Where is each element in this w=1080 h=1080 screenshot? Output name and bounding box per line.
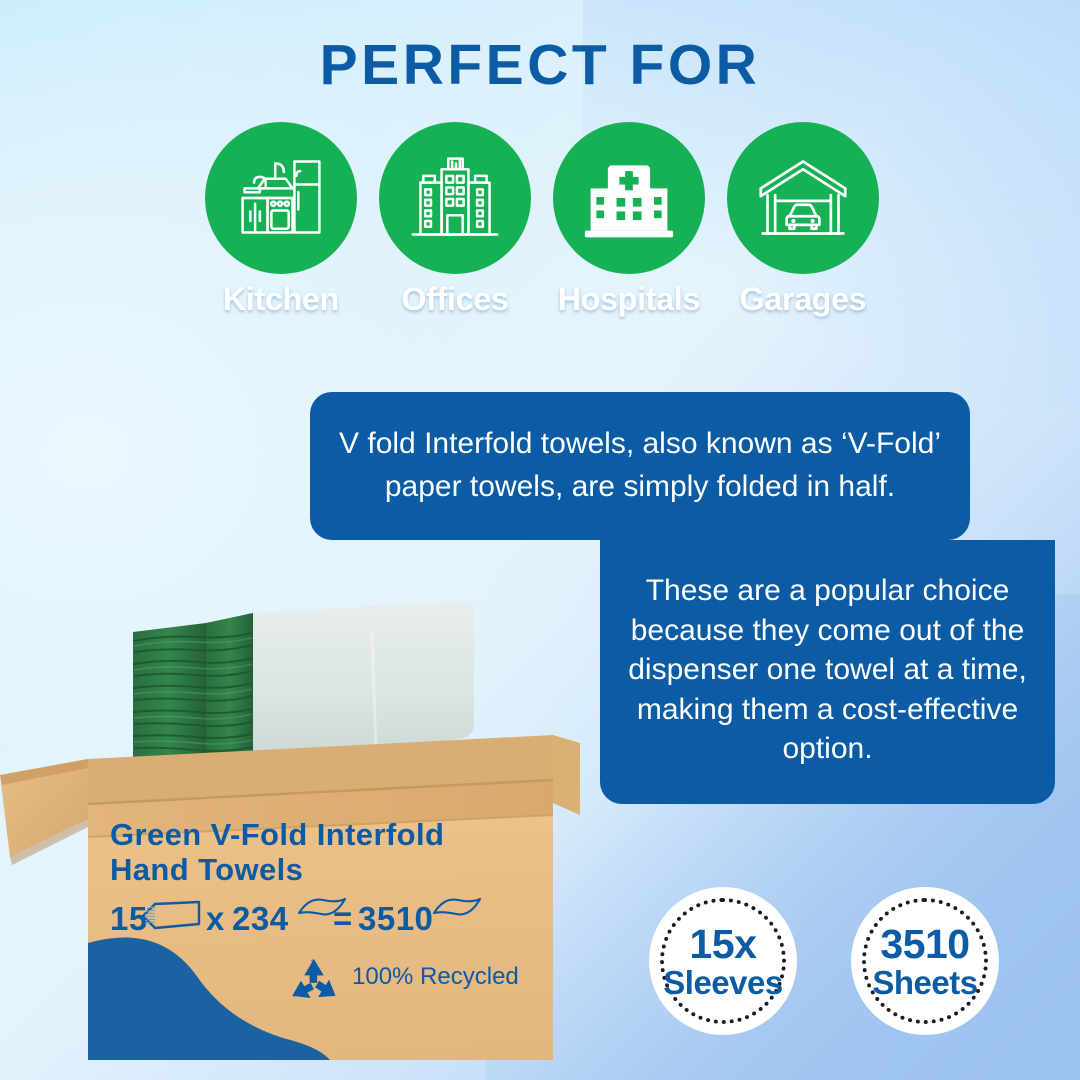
use-case-circle bbox=[205, 122, 357, 274]
garage-icon bbox=[755, 150, 851, 246]
use-case-label: Hospitals bbox=[553, 281, 705, 318]
svg-text:Hand Towels: Hand Towels bbox=[110, 852, 303, 887]
svg-text:Green V-Fold Interfold: Green V-Fold Interfold bbox=[110, 817, 444, 852]
description-secondary-text: These are a popular choice because they … bbox=[618, 571, 1037, 769]
office-building-icon bbox=[407, 150, 503, 246]
badge-sheets[interactable]: 3510 Sheets bbox=[851, 887, 999, 1035]
hospital-icon bbox=[581, 150, 677, 246]
product-image: Green V-Fold Interfold Hand Towels 15 x … bbox=[0, 575, 580, 1080]
use-case-label: Kitchen bbox=[205, 281, 357, 318]
badge-value: 15x bbox=[690, 924, 757, 965]
kitchen-icon bbox=[233, 150, 329, 246]
use-case-icon-row: Kitchen bbox=[205, 122, 881, 337]
badge-sleeves[interactable]: 15x Sleeves bbox=[649, 887, 797, 1035]
page-title: PERFECT FOR bbox=[0, 34, 1080, 97]
badge-label: Sheets bbox=[872, 966, 977, 999]
use-case-kitchen[interactable]: Kitchen bbox=[205, 122, 357, 318]
svg-text:234: 234 bbox=[232, 900, 289, 937]
description-panel-secondary: These are a popular choice because they … bbox=[600, 540, 1055, 804]
use-case-garages[interactable]: Garages bbox=[727, 122, 879, 318]
description-primary-text: V fold Interfold towels, also known as ‘… bbox=[336, 423, 944, 508]
svg-text:3510: 3510 bbox=[358, 900, 433, 937]
use-case-circle bbox=[553, 122, 705, 274]
badge-value: 3510 bbox=[880, 924, 969, 965]
svg-text:15: 15 bbox=[110, 900, 148, 937]
description-panel-primary: V fold Interfold towels, also known as ‘… bbox=[310, 392, 970, 540]
use-case-offices[interactable]: Offices bbox=[379, 122, 531, 318]
use-case-circle bbox=[727, 122, 879, 274]
svg-text:x: x bbox=[206, 900, 225, 937]
use-case-label: Offices bbox=[379, 281, 531, 318]
carton-flap-right bbox=[553, 735, 580, 815]
use-case-hospitals[interactable]: Hospitals bbox=[553, 122, 705, 318]
eco-claim-text: 100% Recycled bbox=[352, 963, 519, 990]
use-case-circle bbox=[379, 122, 531, 274]
badge-label: Sleeves bbox=[663, 966, 782, 999]
use-case-label: Garages bbox=[727, 281, 879, 318]
svg-text:=: = bbox=[333, 900, 353, 937]
